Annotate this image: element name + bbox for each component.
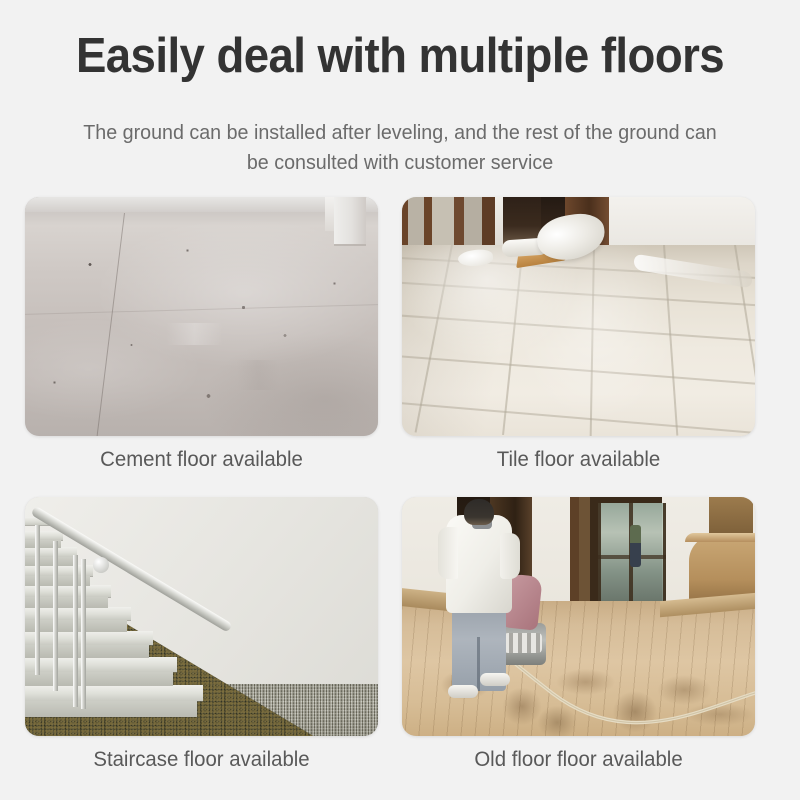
gallery-item-caption: Tile floor available xyxy=(407,447,749,473)
background-person xyxy=(630,525,641,567)
worker-sleeve xyxy=(500,533,520,579)
floor-debris-specks xyxy=(25,197,378,436)
worker-shoe-right xyxy=(480,673,510,686)
gallery-item-tile[interactable]: Tile floor available xyxy=(402,197,755,473)
page-subtitle: The ground can be installed after leveli… xyxy=(74,118,727,178)
wood-counter-top xyxy=(685,533,755,542)
gallery-item-cement[interactable]: Cement floor available xyxy=(25,197,378,473)
worker-head xyxy=(464,499,494,525)
floor-sander-drum xyxy=(504,633,542,653)
cement-floor-photo xyxy=(25,197,378,436)
promo-page: Easily deal with multiple floors The gro… xyxy=(0,0,800,800)
worker-shoulder xyxy=(438,527,458,579)
gallery-item-staircase[interactable]: Staircase floor available xyxy=(25,497,378,773)
old-wood-floor-photo xyxy=(402,497,755,736)
worker-shoe-left xyxy=(448,685,478,698)
page-title: Easily deal with multiple floors xyxy=(28,28,772,84)
staircase-floor-photo xyxy=(25,497,378,736)
worker-trouser-seam xyxy=(477,637,480,691)
gallery-item-caption: Old floor floor available xyxy=(407,747,749,773)
gallery-item-caption: Staircase floor available xyxy=(30,747,372,773)
wood-cabinet xyxy=(709,497,753,537)
tile-floor-photo xyxy=(402,197,755,436)
gallery-item-old-floor[interactable]: Old floor floor available xyxy=(402,497,755,773)
gallery-item-caption: Cement floor available xyxy=(30,447,372,473)
handrail-end-cap xyxy=(93,557,109,573)
